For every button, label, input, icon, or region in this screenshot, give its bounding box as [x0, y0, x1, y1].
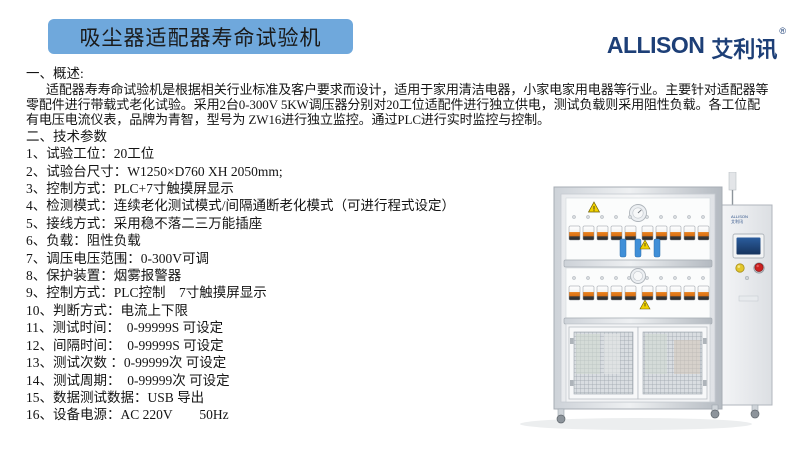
door-hinge	[703, 338, 707, 344]
overview-paragraph: 适配器寿寿命试验机是根据相关行业标准及客户要求而设计，适用于家用清洁电器，小家电…	[26, 82, 788, 128]
brand-logo: ALLISON 艾利讯 ®	[607, 32, 786, 64]
door-hinge	[703, 380, 707, 386]
page-title-banner: 吸尘器适配器寿命试验机	[48, 19, 353, 54]
lower-cabinet-doors	[566, 324, 710, 402]
overview-line: 有电压电流仪表，品牌为青智，型号为 ZW16进行独立监控。通过PLC进行实时监控…	[26, 112, 788, 127]
spec-item: 1、试验工位：20工位	[26, 145, 788, 162]
panel-brand-cjk-label: 艾利讯	[731, 218, 743, 224]
main-cabinet	[554, 187, 722, 409]
brand-cjk-name: 艾利讯	[711, 32, 777, 64]
page-title: 吸尘器适配器寿命试验机	[80, 22, 322, 52]
registered-trademark-icon: ®	[779, 26, 786, 36]
selector-knob[interactable]	[745, 276, 749, 280]
machine-photo: ALLISON 艾利讯	[484, 172, 784, 438]
shelf-rail	[564, 318, 712, 324]
blue-adapter-group	[620, 239, 660, 257]
overview-line: 零配件进行带载式老化试验。采用2台0-300V 5KW调压器分别对20工位适配件…	[26, 97, 788, 112]
shelf-rail	[564, 260, 712, 267]
overhead-cable	[729, 172, 736, 208]
cabinet-door-left[interactable]	[569, 327, 638, 399]
yellow-indicator-button[interactable]	[736, 264, 744, 272]
test-machine-illustration: ALLISON 艾利讯	[484, 172, 784, 438]
cabinet-door-right[interactable]	[638, 327, 707, 399]
control-panel-column: ALLISON 艾利讯	[720, 205, 772, 405]
emergency-stop-button[interactable]	[754, 263, 764, 273]
rotary-meter-upper[interactable]	[630, 205, 647, 222]
hmi-touchscreen[interactable]	[733, 234, 764, 258]
panel-nameplate	[739, 296, 758, 301]
overview-line: 适配器寿寿命试验机是根据相关行业标准及客户要求而设计，适用于家用清洁电器，小家电…	[26, 82, 788, 97]
test-station-row-upper	[564, 198, 712, 267]
specs-heading: 二、技术参数	[26, 129, 788, 145]
rotary-meter-lower[interactable]	[631, 269, 646, 284]
brand-latin-name: ALLISON	[607, 32, 704, 59]
door-hinge	[570, 380, 574, 386]
overview-heading: 一、概述:	[26, 66, 788, 82]
door-hinge	[570, 338, 574, 344]
test-station-row-lower	[564, 268, 712, 324]
floor-shadow	[520, 418, 752, 430]
